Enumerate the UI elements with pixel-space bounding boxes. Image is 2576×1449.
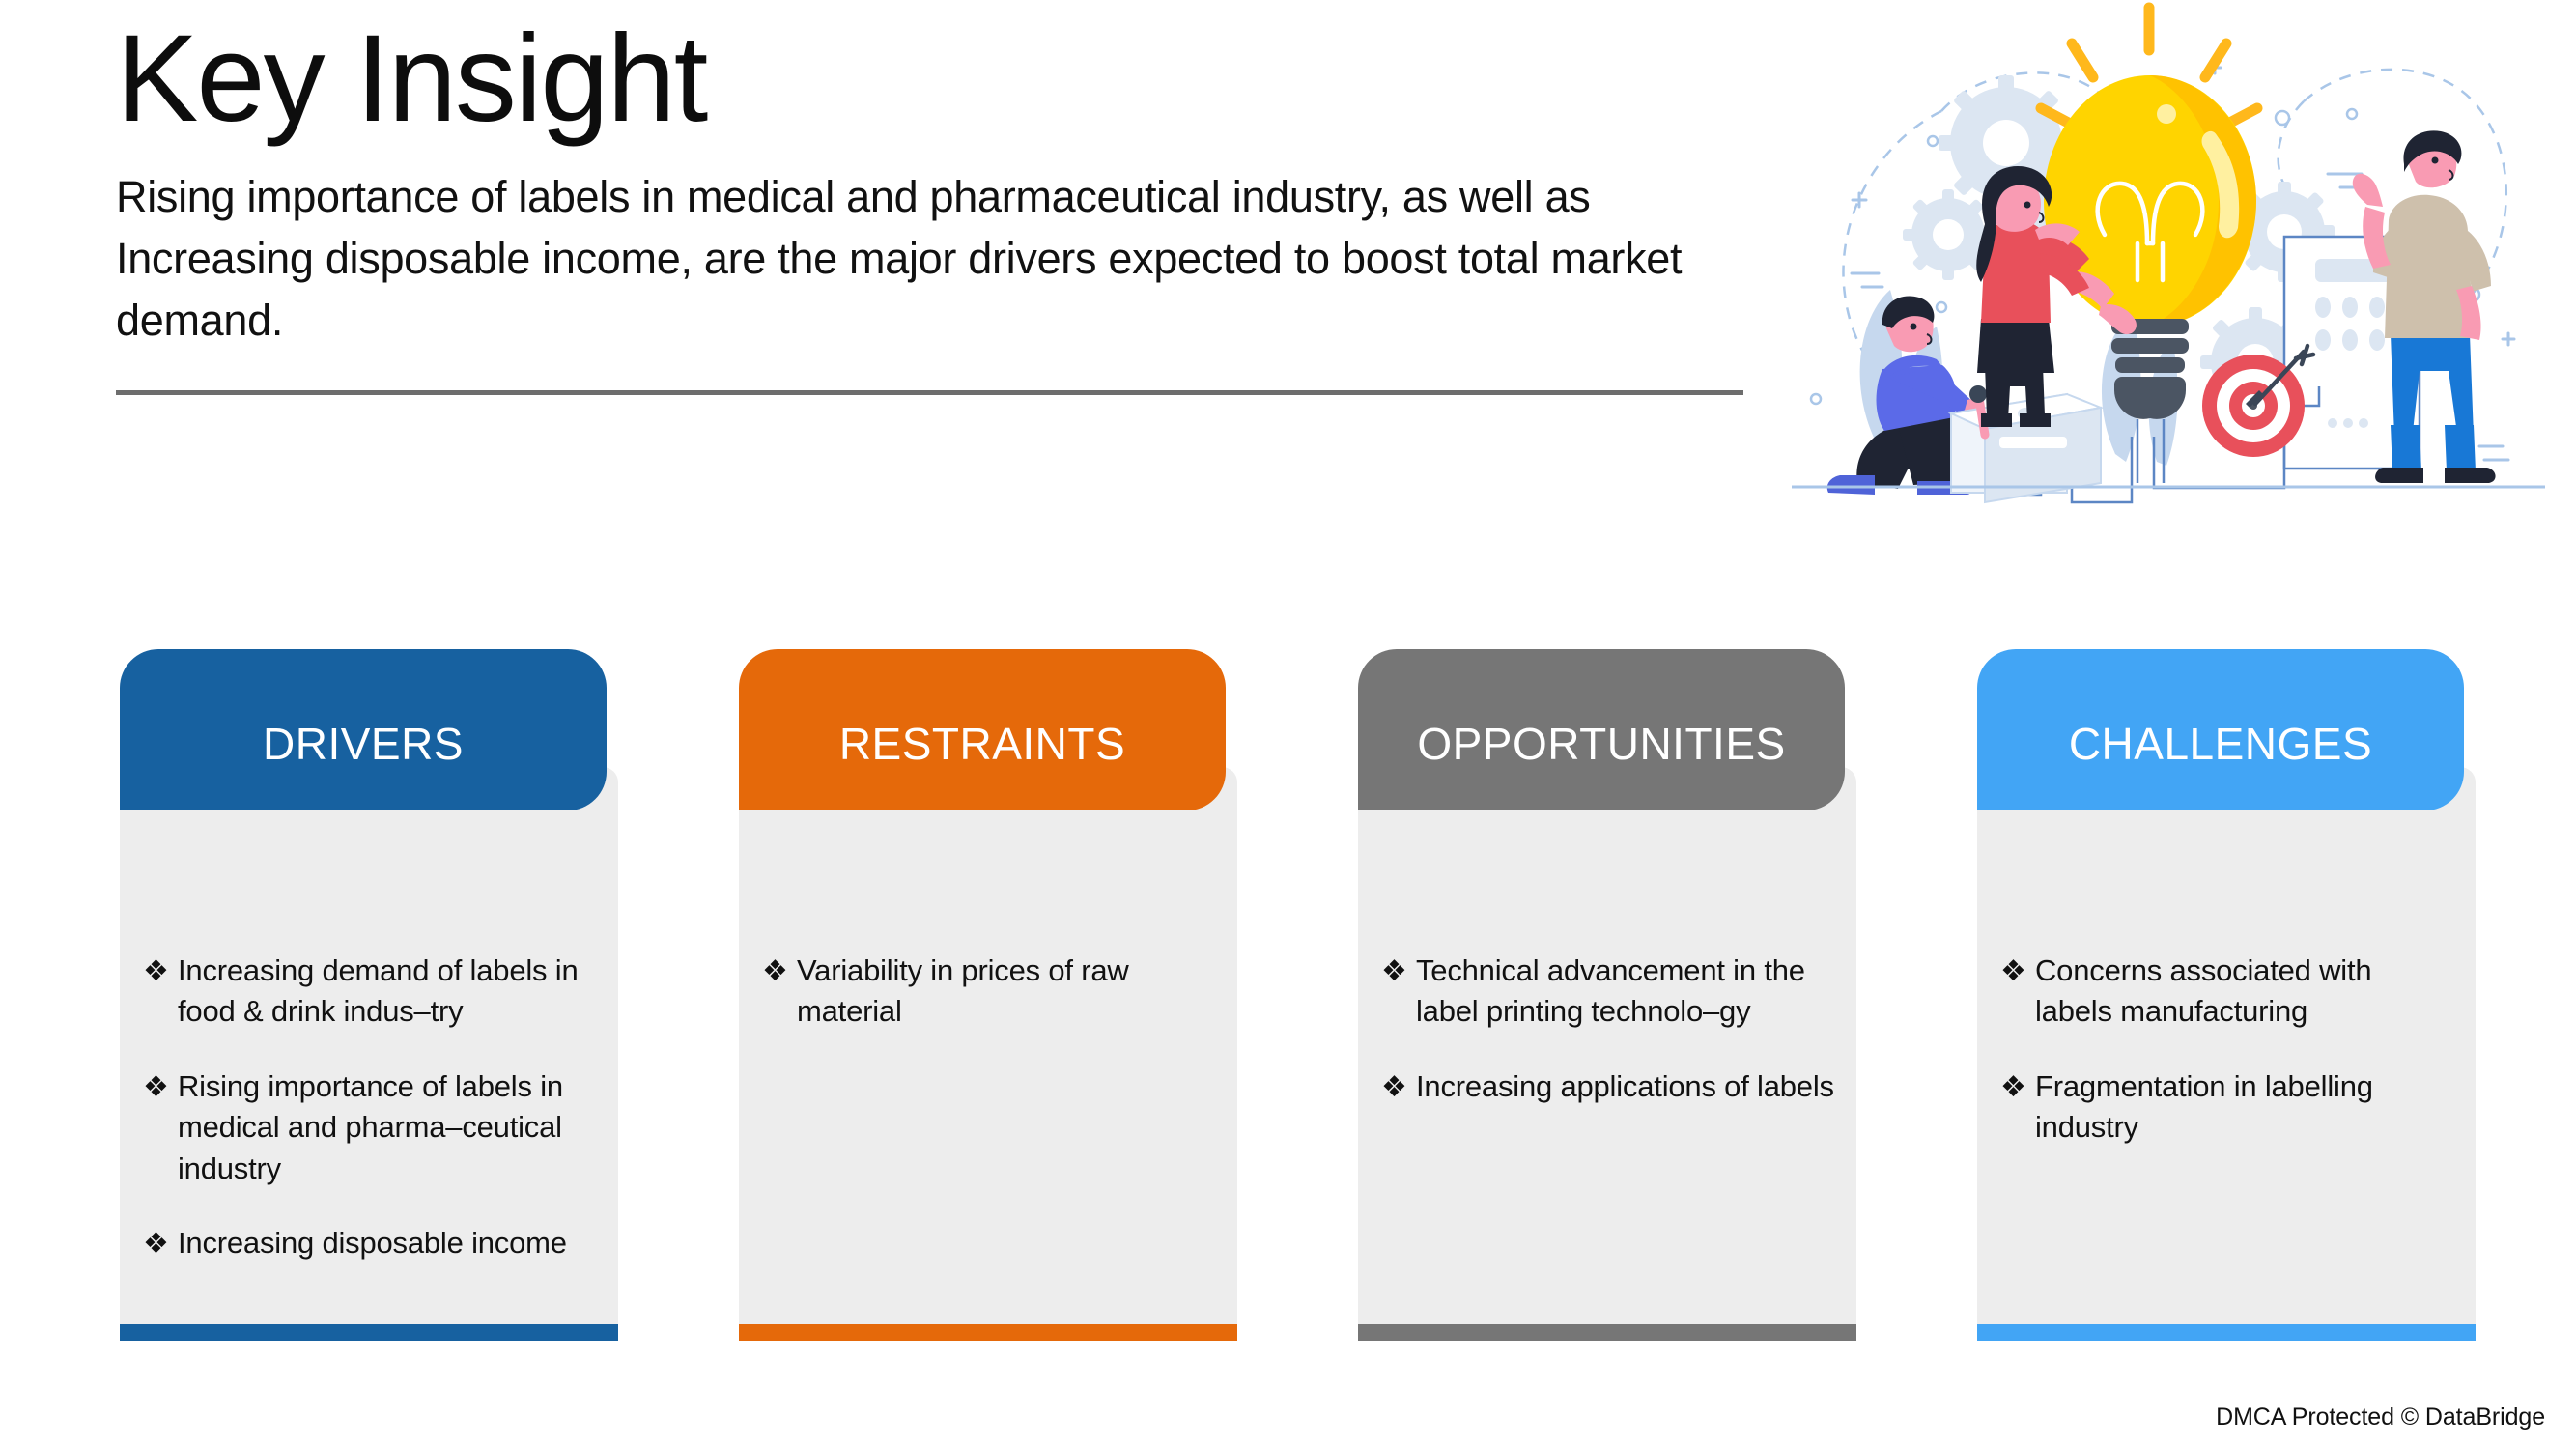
diamond-bullet-icon: ❖ bbox=[143, 1066, 178, 1108]
card-accent-restraints bbox=[739, 1324, 1237, 1341]
diamond-bullet-icon: ❖ bbox=[762, 951, 797, 992]
card-header-drivers[interactable]: DRIVERS bbox=[120, 649, 607, 810]
list-item: ❖ Technical advancement in the label pri… bbox=[1381, 951, 1835, 1033]
card-title-opportunities: OPPORTUNITIES bbox=[1417, 722, 1785, 766]
card-accent-challenges bbox=[1977, 1324, 2476, 1341]
diamond-bullet-icon: ❖ bbox=[2000, 951, 2035, 992]
page-subtitle: Rising importance of labels in medical a… bbox=[116, 166, 1748, 352]
card-accent-opportunities bbox=[1358, 1324, 1856, 1341]
bullet-text: Increasing disposable income bbox=[178, 1223, 597, 1264]
card-body-opportunities: ❖ Technical advancement in the label pri… bbox=[1358, 767, 1856, 1341]
bullet-list-challenges: ❖ Concerns associated with labels manufa… bbox=[2000, 951, 2454, 1182]
card-body-drivers: ❖ Increasing demand of labels in food & … bbox=[120, 767, 618, 1341]
card-challenges[interactable]: ❖ Concerns associated with labels manufa… bbox=[1977, 649, 2476, 1341]
list-item: ❖ Increasing demand of labels in food & … bbox=[143, 951, 597, 1033]
bullet-text: Rising importance of labels in medical a… bbox=[178, 1066, 597, 1189]
bullet-text: Technical advancement in the label print… bbox=[1416, 951, 1835, 1033]
bullet-text: Increasing demand of labels in food & dr… bbox=[178, 951, 597, 1033]
bullet-list-opportunities: ❖ Technical advancement in the label pri… bbox=[1381, 951, 1835, 1142]
card-accent-drivers bbox=[120, 1324, 618, 1341]
card-title-drivers: DRIVERS bbox=[263, 722, 464, 766]
bullet-text: Increasing applications of labels bbox=[1416, 1066, 1835, 1107]
card-drivers[interactable]: ❖ Increasing demand of labels in food & … bbox=[120, 649, 618, 1341]
card-title-challenges: CHALLENGES bbox=[2069, 722, 2372, 766]
card-header-challenges[interactable]: CHALLENGES bbox=[1977, 649, 2464, 810]
diamond-bullet-icon: ❖ bbox=[143, 951, 178, 992]
bullet-list-restraints: ❖ Variability in prices of raw material bbox=[762, 951, 1216, 1066]
header-divider bbox=[116, 390, 1743, 395]
list-item: ❖ Rising importance of labels in medical… bbox=[143, 1066, 597, 1189]
bullet-text: Fragmentation in labelling industry bbox=[2035, 1066, 2454, 1149]
diamond-bullet-icon: ❖ bbox=[1381, 951, 1416, 992]
diamond-bullet-icon: ❖ bbox=[143, 1223, 178, 1264]
list-item: ❖ Increasing applications of labels bbox=[1381, 1066, 1835, 1108]
list-item: ❖ Fragmentation in labelling industry bbox=[2000, 1066, 2454, 1149]
dmca-footer-note: DMCA Protected © DataBridge bbox=[2216, 1404, 2545, 1432]
bullet-list-drivers: ❖ Increasing demand of labels in food & … bbox=[143, 951, 597, 1298]
card-header-opportunities[interactable]: OPPORTUNITIES bbox=[1358, 649, 1845, 810]
diamond-bullet-icon: ❖ bbox=[1381, 1066, 1416, 1108]
list-item: ❖ Variability in prices of raw material bbox=[762, 951, 1216, 1033]
list-item: ❖ Concerns associated with labels manufa… bbox=[2000, 951, 2454, 1033]
diamond-bullet-icon: ❖ bbox=[2000, 1066, 2035, 1108]
bullet-text: Concerns associated with labels manufact… bbox=[2035, 951, 2454, 1033]
bullet-text: Variability in prices of raw material bbox=[797, 951, 1216, 1033]
page-title: Key Insight bbox=[116, 17, 1748, 141]
card-body-challenges: ❖ Concerns associated with labels manufa… bbox=[1977, 767, 2476, 1341]
idea-lightbulb-teamwork-illustration bbox=[1782, 0, 2574, 512]
cards-row: ❖ Increasing demand of labels in food & … bbox=[0, 649, 2576, 1345]
card-header-restraints[interactable]: RESTRAINTS bbox=[739, 649, 1226, 810]
card-restraints[interactable]: ❖ Variability in prices of raw material … bbox=[739, 649, 1237, 1341]
header-block: Key Insight Rising importance of labels … bbox=[116, 17, 1748, 352]
card-body-restraints: ❖ Variability in prices of raw material bbox=[739, 767, 1237, 1341]
list-item: ❖ Increasing disposable income bbox=[143, 1223, 597, 1264]
card-title-restraints: RESTRAINTS bbox=[839, 722, 1125, 766]
card-opportunities[interactable]: ❖ Technical advancement in the label pri… bbox=[1358, 649, 1856, 1341]
